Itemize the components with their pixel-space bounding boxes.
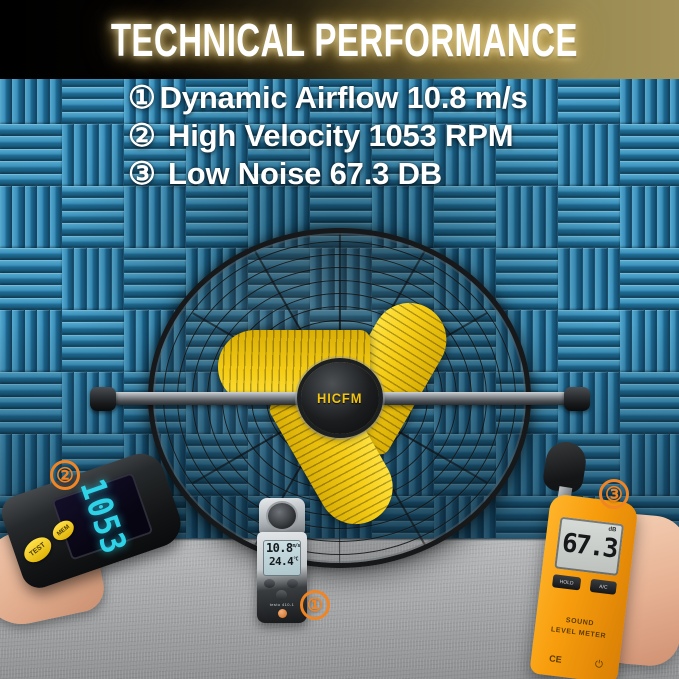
sound-meter-hold-button[interactable]: HOLD [552,574,581,590]
sound-meter-unit: dB [608,527,617,534]
sound-meter-reading: 67.3 [560,528,618,564]
spec-list: ①Dynamic Airflow 10.8 m/s ② High Velocit… [0,82,679,196]
spec-number-1: ① [128,80,156,115]
anemometer-body: 10.8m/s 24.4°C testo 410-1 [257,532,307,623]
power-icon: ⏻ [594,659,603,671]
brand-logo: HICFM [317,390,362,406]
anemometer-key-left[interactable] [264,579,275,588]
callout-marker-3: ③ [599,479,629,509]
spec-text-3: Low Noise 67.3 DB [160,156,442,191]
anemometer-brand-label: testo 410-1 [263,602,301,607]
anemometer-airspeed-value: 10.8 [266,541,293,555]
anemometer-keypad[interactable] [264,579,300,601]
anemometer-display: 10.8m/s 24.4°C [263,540,301,576]
crossbar-knob-left [90,387,116,411]
spec-number-2: ② [128,118,156,153]
sound-meter-name-label: SOUND LEVEL METER [534,612,624,644]
tachometer-device: 1053 TEST MEM [0,468,184,603]
anemometer-airspeed-row: 10.8m/s [266,542,298,556]
product-feature-image: TECHNICAL PERFORMANCE ①Dynamic Airflow 1… [0,0,679,679]
tachometer-reading: 1053 [71,474,134,559]
industrial-wall-fan: HICFM [148,228,531,568]
spec-text-1: Dynamic Airflow 10.8 m/s [160,80,528,115]
tachometer-test-button[interactable]: TEST [19,532,56,567]
anemometer-impeller-icon [268,503,296,529]
spec-item-1: ①Dynamic Airflow 10.8 m/s [128,82,679,113]
callout-marker-2: ② [50,460,80,490]
anemometer-key-right[interactable] [287,579,298,588]
sound-level-meter-device: dB 67.3 HOLD A/C SOUND LEVEL METER CE ⏻ [506,440,679,679]
spec-text-2: High Velocity 1053 RPM [160,118,514,153]
anemometer-temperature-value: 24.4 [269,555,293,568]
crossbar-knob-right [564,387,590,411]
sound-meter-weighting-button[interactable]: A/C [590,579,617,595]
anemometer-base-dot [278,609,287,618]
anemometer-temperature-unit: °C [293,556,298,562]
callout-marker-1: ① [300,590,330,620]
sound-meter-display: dB 67.3 [554,517,624,576]
anemometer-temperature-row: 24.4°C [266,556,298,568]
page-title: TECHNICAL PERFORMANCE [101,17,578,63]
fan-hub: HICFM [301,362,379,434]
header-banner: TECHNICAL PERFORMANCE [0,0,679,79]
anemometer-power-key[interactable] [276,590,287,600]
spec-number-3: ③ [128,156,156,191]
spec-item-3: ③ Low Noise 67.3 DB [128,158,679,189]
anemometer-vane-head [259,498,305,534]
ce-mark-icon: CE [549,653,563,664]
spec-item-2: ② High Velocity 1053 RPM [128,120,679,151]
anemometer-airspeed-unit: m/s [293,543,300,549]
